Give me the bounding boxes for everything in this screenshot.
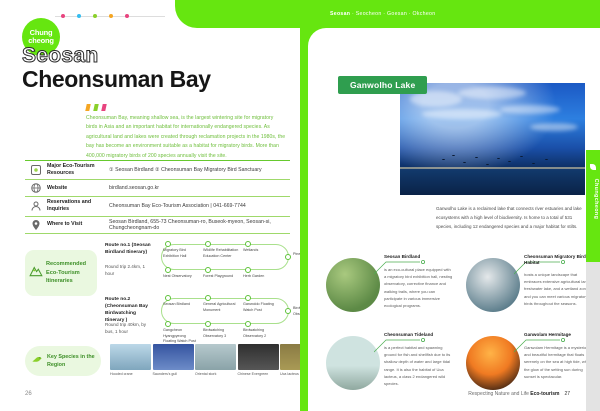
species-caption: Chinese Evergreen: [238, 372, 279, 377]
key-species-section-label: Key Species in the Region: [25, 346, 101, 376]
resources-icon: [25, 164, 47, 176]
hero-image: [400, 83, 585, 195]
info-label: Where to Visit: [47, 221, 109, 228]
card-photo: [326, 336, 380, 390]
table-row: Where to Visit Seosan Birdland, 655-73 C…: [25, 217, 290, 234]
route-node: [205, 267, 211, 273]
chungcheong-side-tab: Chungcheong: [586, 150, 600, 262]
route-node: [205, 295, 211, 301]
quote-marks-icon: [86, 104, 106, 111]
footer-text: Respecting Nature and Life: [468, 391, 530, 397]
route-stop-label: Seosan Birdland: [163, 302, 199, 308]
route-node: [245, 295, 251, 301]
route-track: Migratory Bird Exhibition Hall Wildlife …: [159, 240, 293, 284]
route-stop-label: Gangcheon Hyangpyeong Floating Watch Pos…: [163, 328, 199, 345]
route-stop-label: Birdwatching Observatory 3: [203, 328, 239, 339]
side-tab-shadow: [586, 262, 600, 411]
highlight-card-4: Ganwolam Hermitage Ganwolam Hermitage is…: [466, 328, 594, 400]
route-node: [165, 267, 171, 273]
list-item: Chinese Evergreen: [238, 344, 279, 377]
route-node-end: [285, 308, 291, 314]
route-meta: Round trip 40km, by bus, 1 hour: [105, 322, 153, 336]
card-photo: [326, 258, 380, 312]
route-node: [245, 267, 251, 273]
globe-icon: [25, 182, 47, 194]
itineraries-section-label-text: Recommended Eco-Tourism Itineraries: [46, 260, 93, 285]
route-node: [165, 295, 171, 301]
region-current: Seosan: [330, 11, 350, 17]
route-node: [245, 241, 251, 247]
mountain-icon: [29, 264, 43, 283]
card-title: Cheonsuman Tideland: [384, 332, 454, 338]
species-caption: Oriental stork: [195, 372, 236, 377]
route-2: Route no.2 (Cheonsuman Bay Birdwatching …: [105, 294, 293, 340]
card-photo: [466, 336, 520, 390]
route-stop-label: Birdwatching Observatory 2: [243, 328, 279, 339]
card-body: hosts a unique landscape that embraces e…: [524, 271, 594, 307]
route-stop-label: Migratory Bird Exhibition Hall: [163, 248, 199, 259]
info-label: Website: [47, 185, 109, 192]
card-title: Ganwolam Hermitage: [524, 332, 594, 338]
route-node-end: [285, 254, 291, 260]
card-title: Cheonsuman Migratory Bird Habitat: [524, 254, 594, 266]
info-label: Major Eco-Tourism Resources: [47, 163, 109, 177]
list-item: Saunders's gull: [153, 344, 194, 377]
route-stop-label: Herb Garden: [243, 274, 279, 280]
route-stop-label: Forest Playground: [203, 274, 239, 280]
card-body: is an eco-cultural place equipped with a…: [384, 266, 454, 309]
green-corner-shape: [175, 0, 300, 28]
species-photo: [195, 344, 236, 370]
magazine-spread: Chung cheong Seosan Cheonsuman Bay Cheon…: [0, 0, 600, 411]
species-photo: [110, 344, 151, 370]
footer-right: Respecting Nature and Life Eco-tourism27: [468, 391, 570, 397]
species-strip: Hooded crane Saunders's gull Oriental st…: [110, 344, 321, 377]
info-value: Cheonsuman Bay Eco-Tourism Association |…: [109, 203, 290, 209]
table-row: Reservations and Inquiries Cheonsuman Ba…: [25, 197, 290, 216]
footer-bold: Eco-tourism: [530, 391, 559, 397]
lead-paragraph: Cheonsuman Bay, meaning shallow sea, is …: [86, 114, 286, 161]
highlight-card-3: Cheonsuman Tideland is a perfect habitat…: [326, 328, 454, 400]
highlight-card-1: Seosan Birdland is an eco-cultural place…: [326, 250, 454, 322]
route-1: Route no.1 (Seosan Birdland Itinerary) R…: [105, 240, 293, 286]
bird-leaf-icon: [30, 352, 44, 371]
list-item: Hooded crane: [110, 344, 151, 377]
route-track: Seosan Birdland General Agricultural Mon…: [159, 294, 293, 338]
species-photo: [238, 344, 279, 370]
hero-caption: Ganwolho Lake is a reclaimed lake that c…: [436, 205, 586, 231]
route-node: [205, 321, 211, 327]
phone-icon: [25, 200, 47, 212]
species-caption: Saunders's gull: [153, 372, 194, 377]
highlight-card-2: Cheonsuman Migratory Bird Habitat hosts …: [466, 250, 594, 322]
side-tab-label: Chungcheong: [593, 151, 599, 247]
key-species-section-label-text: Key Species in the Region: [47, 353, 96, 369]
route-stop-label: Nest Observatory: [163, 274, 199, 280]
route-stop-label: General Agricultural Monument: [203, 302, 239, 313]
info-value: birdland.seosan.go.kr: [109, 185, 290, 191]
route-meta: Round trip 2.4km, 1 hour: [105, 264, 153, 278]
itineraries-block: Recommended Eco-Tourism Itineraries Rout…: [25, 240, 293, 340]
table-row: Website birdland.seosan.go.kr: [25, 180, 290, 197]
card-title: Seosan Birdland: [384, 254, 454, 260]
pin-icon: [25, 219, 47, 231]
left-page: Chung cheong Seosan Cheonsuman Bay Cheon…: [0, 0, 300, 411]
info-value: ① Seosan Birdland ② Cheonsuman Bay Migra…: [109, 167, 290, 173]
info-table: Major Eco-Tourism Resources ① Seosan Bir…: [25, 160, 290, 234]
page-number-right: 27: [564, 391, 570, 397]
white-content-panel: Ganwolho Lake Ganwolho Lake is a reclaim…: [308, 28, 600, 411]
route-node: [205, 241, 211, 247]
region-breadcrumb: Seosan · Seocheon · Goesan · Okcheon: [330, 11, 435, 17]
lake-name-tag: Ganwolho Lake: [338, 76, 427, 94]
card-photo: [466, 258, 520, 312]
route-name: Route no.2 (Cheonsuman Bay Birdwatching …: [105, 296, 153, 324]
decorative-dot-strip: [55, 13, 165, 21]
route-stop-label: Wetlands: [243, 248, 279, 254]
table-row: Major Eco-Tourism Resources ① Seosan Bir…: [25, 160, 290, 180]
right-page: Seosan · Seocheon · Goesan · Okcheon: [300, 0, 600, 411]
region-others: · Seocheon · Goesan · Okcheon: [350, 11, 435, 17]
route-name: Route no.1 (Seosan Birdland Itinerary): [105, 242, 153, 256]
page-title: Cheonsuman Bay: [22, 66, 211, 93]
page-eyebrow-title: Seosan: [22, 44, 99, 68]
species-photo: [153, 344, 194, 370]
route-stop-label: Wildlife Rehabilitation Education Center: [203, 248, 239, 259]
list-item: Oriental stork: [195, 344, 236, 377]
card-body: Ganwolam Hermitage is a mysterious and b…: [524, 344, 594, 380]
info-label: Reservations and Inquiries: [47, 199, 109, 213]
card-body: is a perfect habitat and spawning ground…: [384, 344, 454, 387]
species-caption: Hooded crane: [110, 372, 151, 377]
itineraries-section-label: Recommended Eco-Tourism Itineraries: [25, 250, 97, 296]
page-number-left: 26: [25, 391, 32, 397]
route-stop-label: Ganwoldo Floating Watch Post: [243, 302, 279, 313]
route-node: [165, 241, 171, 247]
route-node: [245, 321, 251, 327]
route-node: [165, 321, 171, 327]
info-value: Seosan Birdland, 655-73 Cheonsuman-ro, B…: [109, 219, 290, 231]
